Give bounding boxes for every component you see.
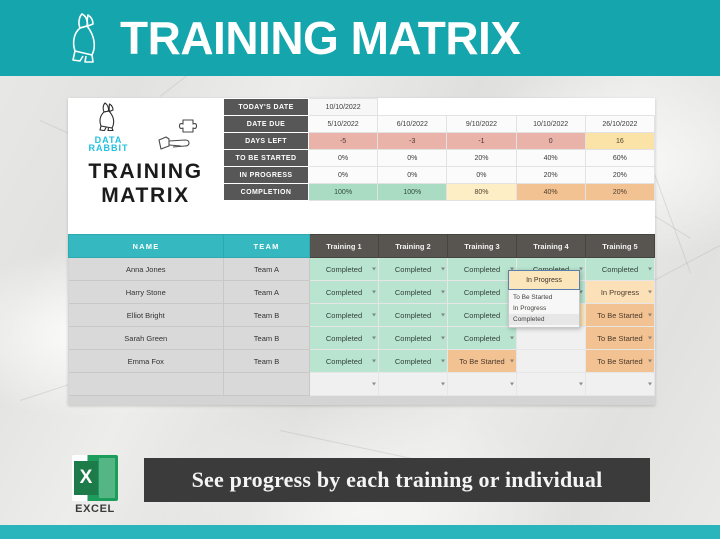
cell-status[interactable]: To Be Started xyxy=(586,327,655,350)
cell-status[interactable]: Completed xyxy=(448,281,517,304)
cell-status[interactable]: To Be Started xyxy=(586,350,655,373)
cell-name[interactable]: Sarah Green xyxy=(69,327,224,350)
chevron-down-icon[interactable] xyxy=(372,383,376,386)
cell-name[interactable]: Elliot Bright xyxy=(69,304,224,327)
in-progress-4: 20% xyxy=(516,167,585,184)
status-text: Completed xyxy=(326,288,362,297)
rabbit-icon xyxy=(66,11,106,65)
chevron-down-icon[interactable] xyxy=(648,383,652,386)
in-progress-3: 0% xyxy=(447,167,516,184)
chevron-down-icon[interactable] xyxy=(648,337,652,340)
status-text: Completed xyxy=(464,288,500,297)
status-text: Completed xyxy=(326,334,362,343)
summary-row-days-left: DAYS LEFT -5 -3 -1 0 16 xyxy=(224,133,655,150)
in-progress-1: 0% xyxy=(309,167,378,184)
summary-row-in-progress: IN PROGRESS 0% 0% 0% 20% 20% xyxy=(224,167,655,184)
date-due-5[interactable]: 26/10/2022 xyxy=(585,116,654,133)
brand-title-line1: TRAINING xyxy=(88,160,202,184)
cell-status[interactable] xyxy=(379,373,448,396)
spreadsheet-card: DATA RABBIT TRAINING MATRIX TODAY'S DATE… xyxy=(68,98,655,405)
to-be-started-3: 20% xyxy=(447,150,516,167)
chevron-down-icon[interactable] xyxy=(441,383,445,386)
chevron-down-icon[interactable] xyxy=(510,360,514,363)
summary-row-date-due: DATE DUE 5/10/2022 6/10/2022 9/10/2022 1… xyxy=(224,116,655,133)
status-text: To Be Started xyxy=(597,357,642,366)
cell-status[interactable]: Completed xyxy=(448,327,517,350)
dropdown-option-in-progress[interactable]: In Progress xyxy=(509,303,579,314)
cell-status[interactable]: Completed xyxy=(379,304,448,327)
cell-team[interactable]: Team A xyxy=(224,258,310,281)
completion-4: 40% xyxy=(516,184,585,201)
cell-status[interactable]: Completed xyxy=(379,327,448,350)
cell-status[interactable]: In Progress xyxy=(586,281,655,304)
column-header-team[interactable]: TEAM xyxy=(224,235,310,258)
chevron-down-icon[interactable] xyxy=(372,314,376,317)
status-text: Completed xyxy=(395,311,431,320)
status-text: To Be Started xyxy=(597,311,642,320)
chevron-down-icon[interactable] xyxy=(441,314,445,317)
summary-table: TODAY'S DATE 10/10/2022 DATE DUE 5/10/20… xyxy=(223,98,655,201)
dropdown-option-list: To Be Started In Progress Completed xyxy=(508,290,580,328)
cell-name[interactable] xyxy=(69,373,224,396)
cell-name[interactable]: Anna Jones xyxy=(69,258,224,281)
to-be-started-2: 0% xyxy=(378,150,447,167)
summary-label-days-left: DAYS LEFT xyxy=(224,133,309,150)
chevron-down-icon[interactable] xyxy=(441,291,445,294)
cell-status[interactable]: Completed xyxy=(310,350,379,373)
days-left-4: 0 xyxy=(516,133,585,150)
cell-status[interactable]: Completed xyxy=(310,304,379,327)
table-row: Emma Fox Team B Completed Completed To B… xyxy=(69,350,655,373)
summary-label-today: TODAY'S DATE xyxy=(224,99,309,116)
to-be-started-5: 60% xyxy=(585,150,654,167)
excel-label: EXCEL xyxy=(66,503,124,515)
status-text: Completed xyxy=(326,357,362,366)
cell-team[interactable]: Team B xyxy=(224,304,310,327)
brand-block: DATA RABBIT TRAINING MATRIX xyxy=(68,98,223,234)
cell-status[interactable] xyxy=(586,373,655,396)
column-header-training-3[interactable]: Training 3 xyxy=(448,235,517,258)
brand-title: TRAINING MATRIX xyxy=(88,160,202,208)
column-header-name[interactable]: NAME xyxy=(69,235,224,258)
date-due-2[interactable]: 6/10/2022 xyxy=(378,116,447,133)
chevron-down-icon[interactable] xyxy=(648,268,652,271)
status-text: Completed xyxy=(326,311,362,320)
status-text: To Be Started xyxy=(597,334,642,343)
cell-status[interactable]: To Be Started xyxy=(586,304,655,327)
completion-3: 80% xyxy=(447,184,516,201)
summary-label-date-due: DATE DUE xyxy=(224,116,309,133)
table-row xyxy=(69,373,655,396)
summary-label-in-progress: IN PROGRESS xyxy=(224,167,309,184)
status-text: Completed xyxy=(602,265,638,274)
status-text: Completed xyxy=(464,311,500,320)
completion-2: 100% xyxy=(378,184,447,201)
summary-row-today: TODAY'S DATE 10/10/2022 xyxy=(224,99,655,116)
hand-puzzle-icon xyxy=(155,118,203,152)
dropdown-option-to-be-started[interactable]: To Be Started xyxy=(509,292,579,303)
cell-name[interactable]: Emma Fox xyxy=(69,350,224,373)
table-header-row: NAME TEAM Training 1 Training 2 Training… xyxy=(69,235,655,258)
dropdown-option-completed[interactable]: Completed xyxy=(509,314,579,325)
excel-logo: X EXCEL xyxy=(66,455,124,515)
cell-status[interactable]: To Be Started xyxy=(448,350,517,373)
status-text: To Be Started xyxy=(459,357,504,366)
banner-title: TRAINING MATRIX xyxy=(120,11,521,65)
cell-status[interactable] xyxy=(448,373,517,396)
status-text: Completed xyxy=(395,357,431,366)
chevron-down-icon[interactable] xyxy=(441,337,445,340)
page-banner: TRAINING MATRIX xyxy=(0,0,720,76)
excel-x-glyph: X xyxy=(74,461,98,495)
table-row: Sarah Green Team B Completed Completed C… xyxy=(69,327,655,350)
cell-status[interactable] xyxy=(517,373,586,396)
days-left-3: -1 xyxy=(447,133,516,150)
cell-team[interactable]: Team B xyxy=(224,327,310,350)
chevron-down-icon[interactable] xyxy=(372,268,376,271)
chevron-down-icon[interactable] xyxy=(510,337,514,340)
summary-block: TODAY'S DATE 10/10/2022 DATE DUE 5/10/20… xyxy=(223,98,655,234)
to-be-started-4: 40% xyxy=(516,150,585,167)
summary-label-to-be-started: TO BE STARTED xyxy=(224,150,309,167)
summary-row-completion: COMPLETION 100% 100% 80% 40% 20% xyxy=(224,184,655,201)
brand-title-line2: MATRIX xyxy=(88,184,202,208)
chevron-down-icon[interactable] xyxy=(372,291,376,294)
cell-team[interactable]: Team B xyxy=(224,350,310,373)
cell-status-covered[interactable] xyxy=(517,350,586,373)
cell-status[interactable]: Completed xyxy=(448,258,517,281)
chevron-down-icon[interactable] xyxy=(579,383,583,386)
cell-status-covered[interactable] xyxy=(517,327,586,350)
chevron-down-icon[interactable] xyxy=(648,360,652,363)
status-text: In Progress xyxy=(601,288,639,297)
cell-status[interactable]: Completed xyxy=(379,258,448,281)
cell-status[interactable]: Completed xyxy=(379,281,448,304)
date-due-1[interactable]: 5/10/2022 xyxy=(309,116,378,133)
status-text: Completed xyxy=(464,265,500,274)
chevron-down-icon[interactable] xyxy=(648,314,652,317)
cell-name[interactable]: Harry Stone xyxy=(69,281,224,304)
excel-icon: X xyxy=(72,455,118,501)
summary-value-today-date[interactable]: 10/10/2022 xyxy=(309,99,378,116)
cell-team[interactable] xyxy=(224,373,310,396)
status-text: Completed xyxy=(395,334,431,343)
in-progress-2: 0% xyxy=(378,167,447,184)
cell-status[interactable]: Completed xyxy=(310,281,379,304)
column-header-training-4[interactable]: Training 4 xyxy=(517,235,586,258)
status-dropdown[interactable]: In Progress To Be Started In Progress Co… xyxy=(508,270,580,328)
column-header-training-1[interactable]: Training 1 xyxy=(310,235,379,258)
rabbit-icon xyxy=(94,101,124,131)
cell-status[interactable] xyxy=(310,373,379,396)
column-header-training-5[interactable]: Training 5 xyxy=(586,235,655,258)
cell-status[interactable]: Completed xyxy=(448,304,517,327)
cell-status[interactable]: Completed xyxy=(586,258,655,281)
cell-team[interactable]: Team A xyxy=(224,281,310,304)
cell-status[interactable]: Completed xyxy=(310,258,379,281)
chevron-down-icon[interactable] xyxy=(441,268,445,271)
cell-status[interactable]: Completed xyxy=(379,350,448,373)
completion-1: 100% xyxy=(309,184,378,201)
days-left-1: -5 xyxy=(309,133,378,150)
footer-caption: See progress by each training or individ… xyxy=(144,458,650,502)
cell-status[interactable]: Completed xyxy=(310,327,379,350)
summary-blank-today xyxy=(378,99,655,116)
bottom-accent-strip xyxy=(0,525,720,539)
status-text: Completed xyxy=(395,265,431,274)
status-text: Completed xyxy=(326,265,362,274)
status-text: Completed xyxy=(395,288,431,297)
days-left-5: 16 xyxy=(585,133,654,150)
chevron-down-icon[interactable] xyxy=(441,360,445,363)
status-text: Completed xyxy=(464,334,500,343)
chevron-down-icon[interactable] xyxy=(372,360,376,363)
days-left-2: -3 xyxy=(378,133,447,150)
date-due-4[interactable]: 10/10/2022 xyxy=(516,116,585,133)
chevron-down-icon[interactable] xyxy=(510,383,514,386)
excel-sheet-shape xyxy=(99,458,115,498)
completion-5: 20% xyxy=(585,184,654,201)
summary-row-to-be-started: TO BE STARTED 0% 0% 20% 40% 60% xyxy=(224,150,655,167)
chevron-down-icon[interactable] xyxy=(648,291,652,294)
summary-label-completion: COMPLETION xyxy=(224,184,309,201)
to-be-started-1: 0% xyxy=(309,150,378,167)
in-progress-5: 20% xyxy=(585,167,654,184)
brand-logo-line2: RABBIT xyxy=(89,144,129,152)
date-due-3[interactable]: 9/10/2022 xyxy=(447,116,516,133)
chevron-down-icon[interactable] xyxy=(372,337,376,340)
column-header-training-2[interactable]: Training 2 xyxy=(379,235,448,258)
dropdown-selected-value[interactable]: In Progress xyxy=(508,270,580,290)
